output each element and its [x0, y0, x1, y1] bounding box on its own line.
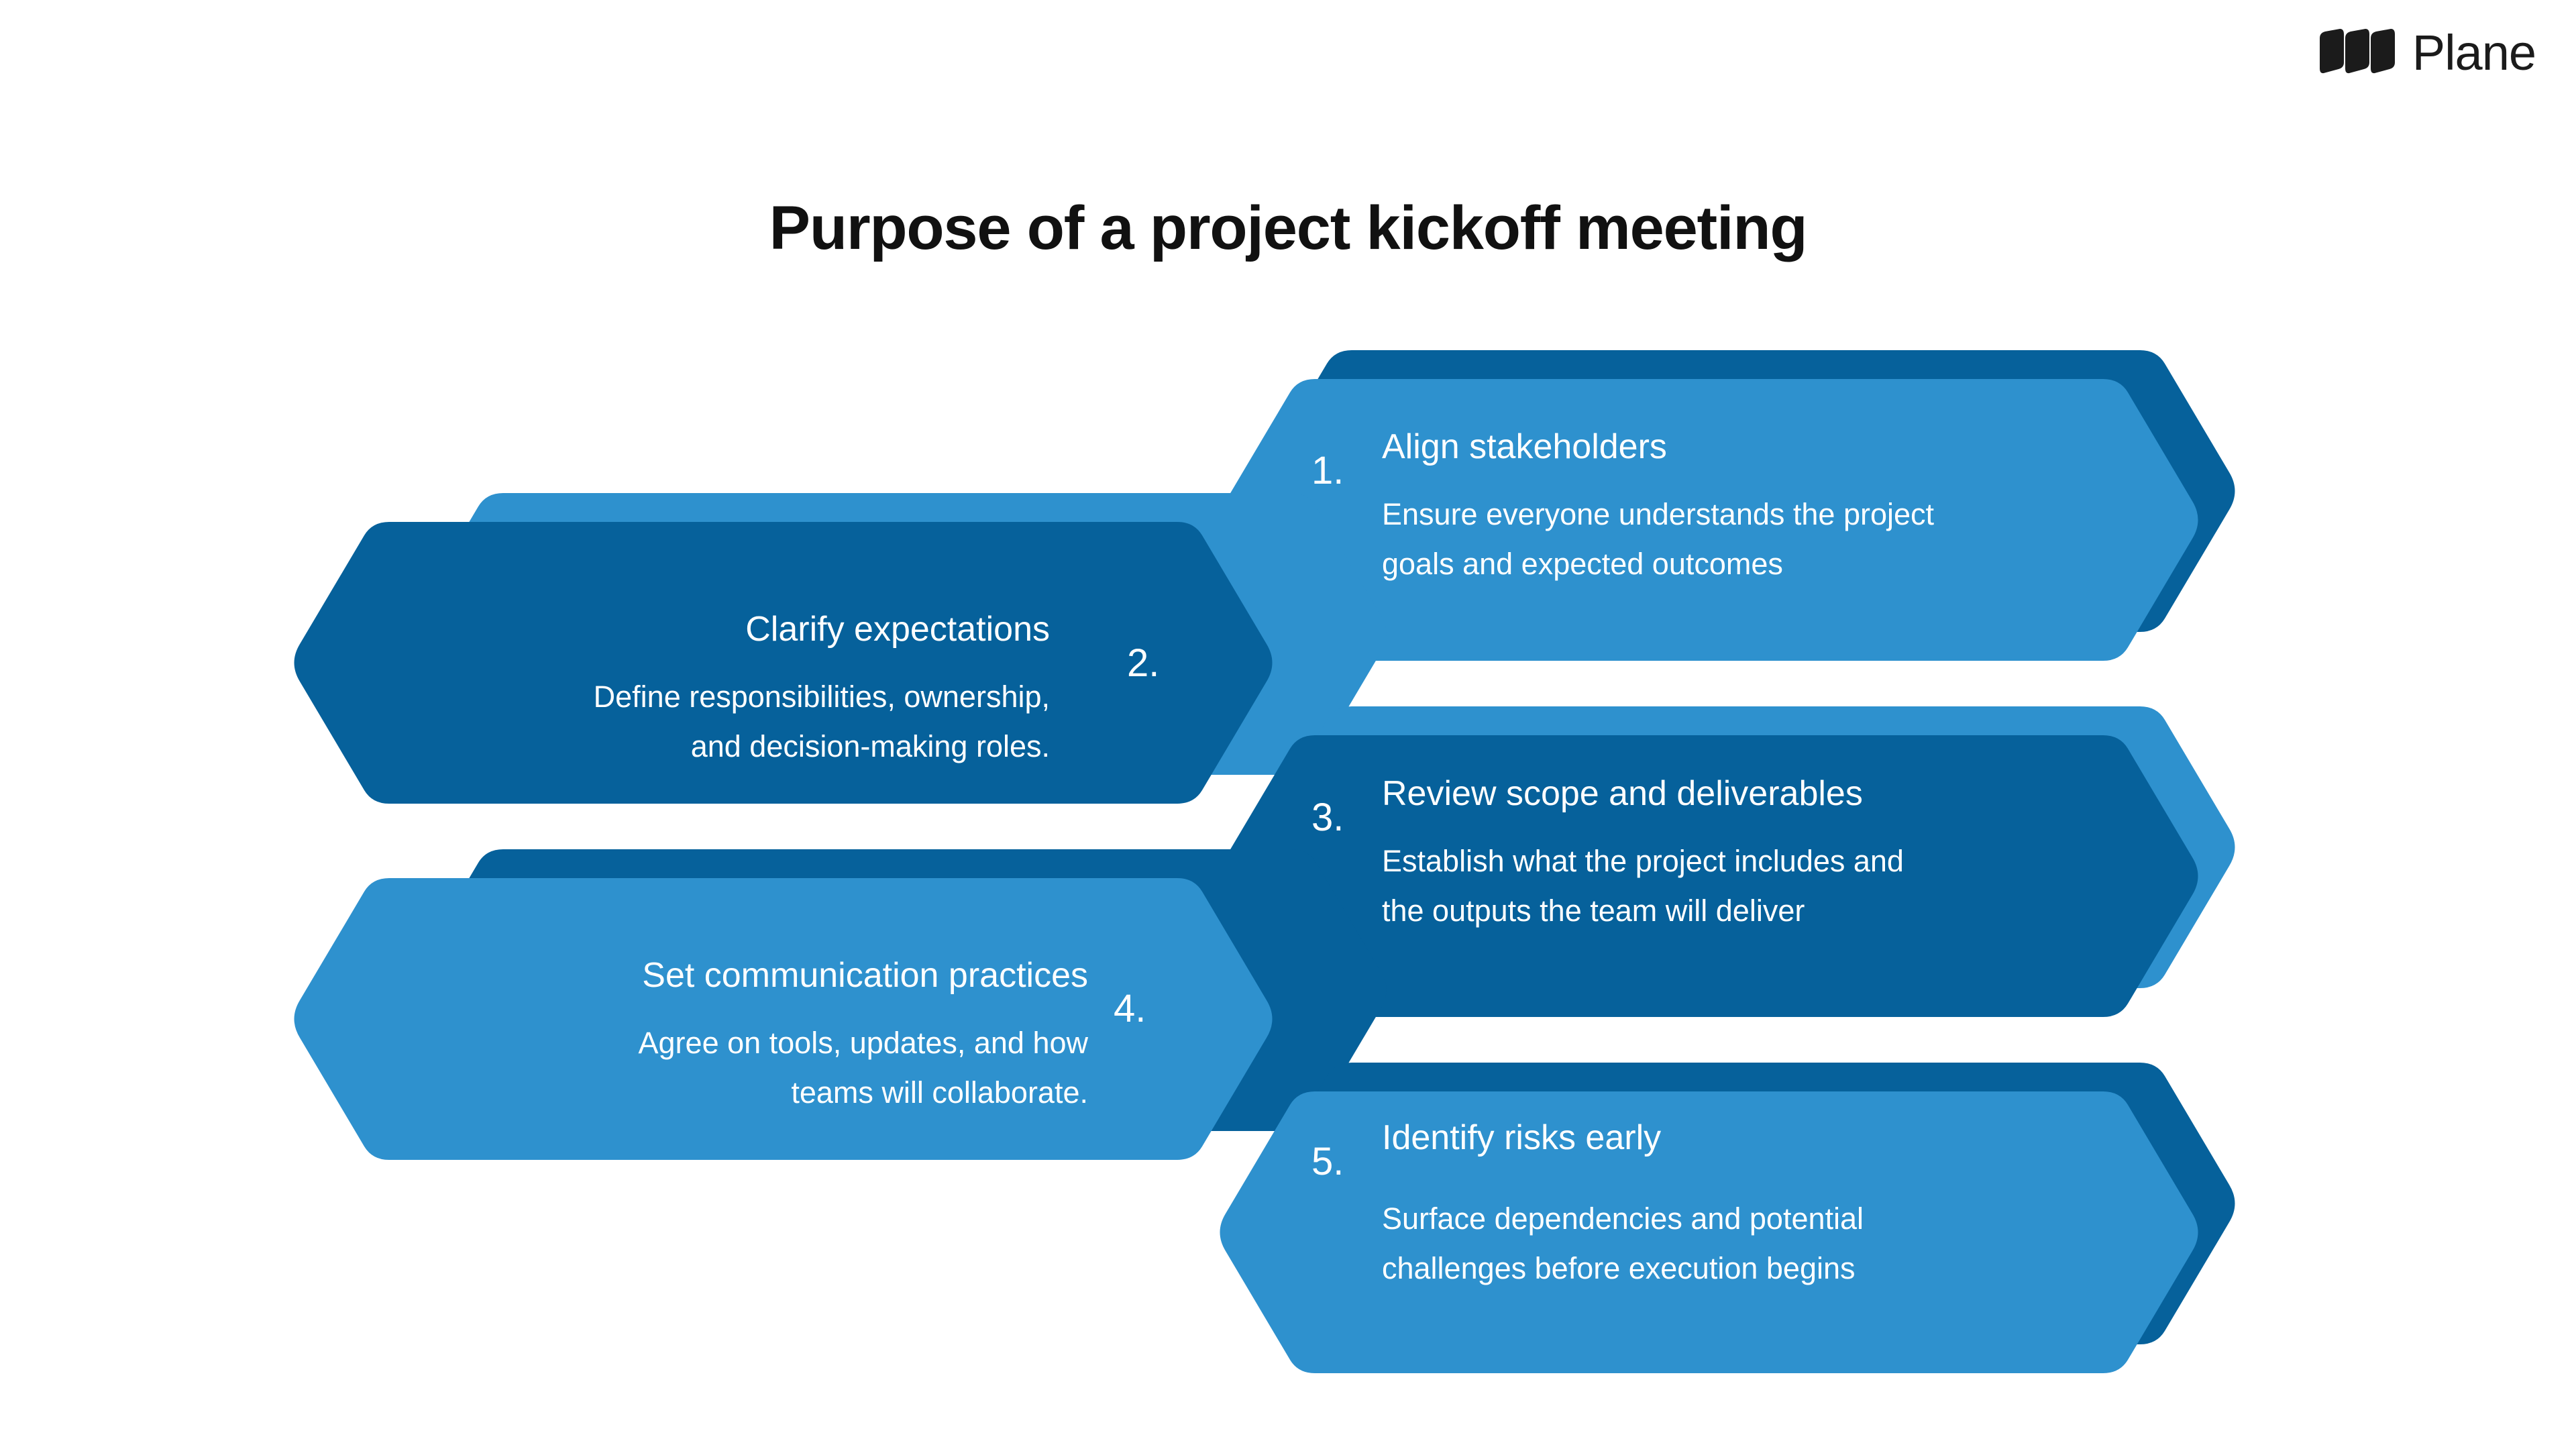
item-desc-line2-4: teams will collaborate. — [335, 1068, 1088, 1118]
item-desc-line2-2: and decision-making roles. — [335, 722, 1050, 771]
item-number-4: 4. — [1114, 989, 1146, 1028]
item-heading-4: Set communication practices — [335, 958, 1088, 993]
item-number-3: 3. — [1311, 798, 1344, 837]
item-desc-line1-1: Ensure everyone understands the project — [1382, 490, 2153, 539]
item-heading-1: Align stakeholders — [1382, 429, 1667, 464]
item-heading-5: Identify risks early — [1382, 1120, 1661, 1155]
item-heading-3: Review scope and deliverables — [1382, 776, 1863, 811]
item-desc-line2-3: the outputs the team will deliver — [1382, 886, 2153, 936]
item-desc-line2-1: goals and expected outcomes — [1382, 539, 2153, 589]
item-desc-line1-2: Define responsibilities, ownership, — [335, 672, 1050, 722]
item-desc-line1-4: Agree on tools, updates, and how — [335, 1018, 1088, 1068]
hexagon-diagram: 1. Align stakeholders Ensure everyone un… — [0, 0, 2576, 1449]
item-heading-2: Clarify expectations — [335, 612, 1050, 647]
item-number-2: 2. — [1127, 644, 1159, 683]
item-number-1: 1. — [1311, 451, 1344, 490]
item-desc-line1-3: Establish what the project includes and — [1382, 837, 2153, 886]
item-number-5: 5. — [1311, 1142, 1344, 1181]
item-desc-line2-5: challenges before execution begins — [1382, 1244, 2153, 1293]
slide-canvas: Plane Purpose of a project kickoff meeti… — [0, 0, 2576, 1449]
item-desc-line1-5: Surface dependencies and potential — [1382, 1194, 2153, 1244]
